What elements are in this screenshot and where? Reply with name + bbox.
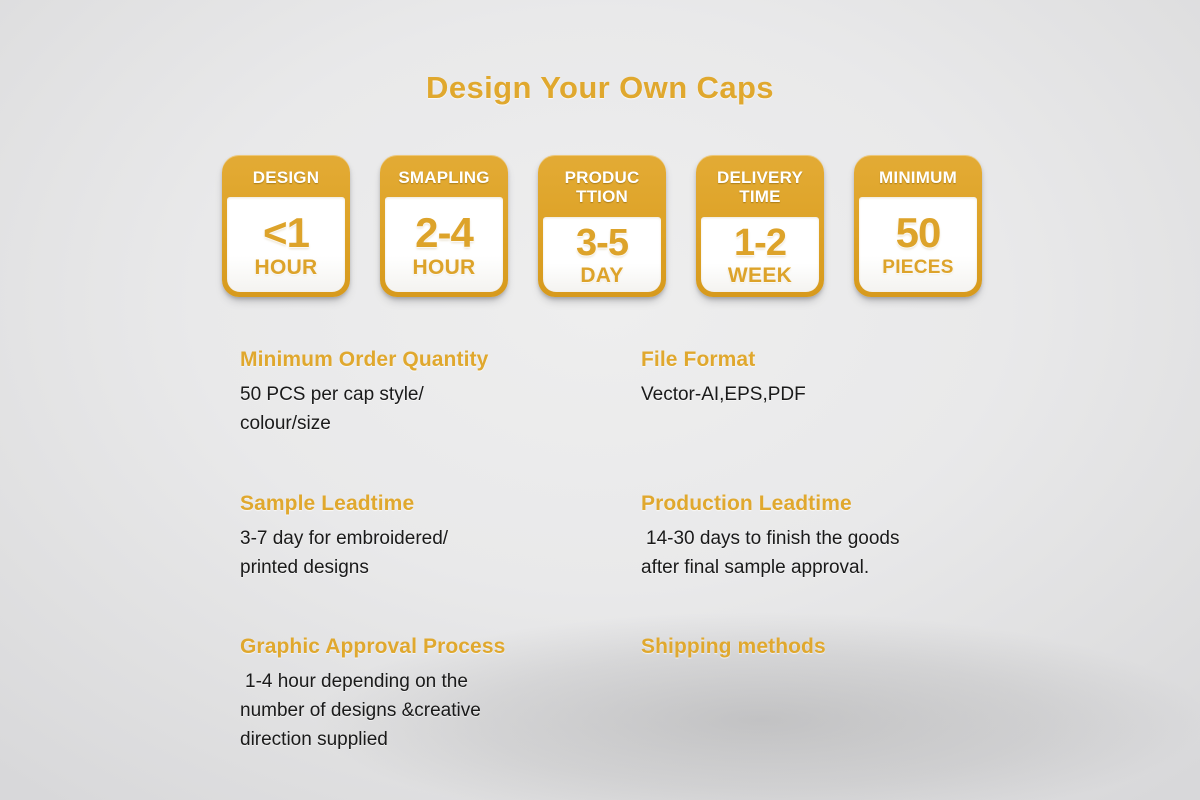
- info-body-line: colour/size: [240, 409, 640, 438]
- badge-smapling-header-line1: SMAPLING: [398, 168, 489, 187]
- info-body-line: 1-4 hour depending on the: [240, 667, 640, 696]
- info-grid: Minimum Order Quantity 50 PCS per cap st…: [240, 348, 1040, 754]
- badge-delivery-time: DELIVERY TIME 1-2 WEEK: [696, 155, 824, 297]
- badge-delivery-time-body: 1-2 WEEK: [701, 217, 819, 292]
- info-body-line: 3-7 day for embroidered/: [240, 524, 640, 553]
- info-body-production-leadtime: 14-30 days to finish the goods after fin…: [641, 524, 1040, 582]
- infographic-page: Design Your Own Caps DESIGN <1 HOUR SMAP…: [0, 0, 1200, 800]
- info-block-sample-leadtime: Sample Leadtime 3-7 day for embroidered/…: [240, 492, 640, 582]
- badge-delivery-time-header: DELIVERY TIME: [696, 155, 824, 217]
- badge-design-value: <1: [263, 211, 309, 255]
- info-row-spacer: [240, 438, 1040, 492]
- badge-smapling: SMAPLING 2-4 HOUR: [380, 155, 508, 297]
- info-block-minimum-order-quantity: Minimum Order Quantity 50 PCS per cap st…: [240, 348, 640, 438]
- badge-design-unit: HOUR: [254, 256, 317, 279]
- page-title: Design Your Own Caps: [0, 70, 1200, 106]
- badge-design-body: <1 HOUR: [227, 197, 345, 292]
- badge-minimum-header-line1: MINIMUM: [879, 168, 957, 187]
- badge-delivery-time-header-line1: DELIVERY: [717, 168, 803, 187]
- info-body-line: printed designs: [240, 553, 640, 582]
- info-block-shipping-methods: Shipping methods: [640, 635, 1040, 754]
- info-row-3: Graphic Approval Process 1-4 hour depend…: [240, 635, 1040, 754]
- info-body-sample-leadtime: 3-7 day for embroidered/ printed designs: [240, 524, 640, 582]
- info-heading-minimum-order-quantity: Minimum Order Quantity: [240, 348, 640, 372]
- info-heading-production-leadtime: Production Leadtime: [641, 492, 1040, 516]
- badge-production-header-line2: TTION: [576, 187, 628, 206]
- info-block-file-format: File Format Vector-AI,EPS,PDF: [640, 348, 1040, 438]
- badge-minimum-body: 50 PIECES: [859, 197, 977, 292]
- badge-production-body: 3-5 DAY: [543, 217, 661, 292]
- badge-smapling-header: SMAPLING: [380, 155, 508, 197]
- badge-production-unit: DAY: [580, 264, 623, 287]
- badge-minimum-header: MINIMUM: [854, 155, 982, 197]
- badge-minimum-value: 50: [896, 211, 941, 255]
- info-heading-file-format: File Format: [641, 348, 1040, 372]
- badge-smapling-body: 2-4 HOUR: [385, 197, 503, 292]
- info-body-line: 50 PCS per cap style/: [240, 380, 640, 409]
- info-body-line: 14-30 days to finish the goods: [641, 524, 1040, 553]
- info-body-minimum-order-quantity: 50 PCS per cap style/ colour/size: [240, 380, 640, 438]
- badge-minimum: MINIMUM 50 PIECES: [854, 155, 982, 297]
- badge-production-header: PRODUC TTION: [538, 155, 666, 217]
- badge-delivery-time-header-line2: TIME: [739, 187, 780, 206]
- badge-production-header-line1: PRODUC: [565, 168, 640, 187]
- info-block-production-leadtime: Production Leadtime 14-30 days to finish…: [640, 492, 1040, 582]
- info-row-spacer: [240, 582, 1040, 635]
- info-heading-shipping-methods: Shipping methods: [641, 635, 1040, 659]
- info-block-graphic-approval-process: Graphic Approval Process 1-4 hour depend…: [240, 635, 640, 754]
- info-row-1: Minimum Order Quantity 50 PCS per cap st…: [240, 348, 1040, 438]
- info-body-file-format: Vector-AI,EPS,PDF: [641, 380, 1040, 409]
- info-body-line: Vector-AI,EPS,PDF: [641, 380, 1040, 409]
- info-body-line: number of designs &creative: [240, 696, 640, 725]
- info-heading-graphic-approval-process: Graphic Approval Process: [240, 635, 640, 659]
- badge-row: DESIGN <1 HOUR SMAPLING 2-4 HOUR PRODUC …: [222, 155, 982, 300]
- badge-design-header: DESIGN: [222, 155, 350, 197]
- badge-design-header-line1: DESIGN: [253, 168, 319, 187]
- badge-smapling-unit: HOUR: [412, 256, 475, 279]
- badge-design: DESIGN <1 HOUR: [222, 155, 350, 297]
- badge-minimum-unit: PIECES: [882, 256, 954, 279]
- info-heading-sample-leadtime: Sample Leadtime: [240, 492, 640, 516]
- info-body-line: after final sample approval.: [641, 553, 1040, 582]
- badge-production-value: 3-5: [576, 223, 628, 263]
- info-row-2: Sample Leadtime 3-7 day for embroidered/…: [240, 492, 1040, 582]
- badge-delivery-time-value: 1-2: [734, 223, 786, 263]
- badge-production: PRODUC TTION 3-5 DAY: [538, 155, 666, 297]
- info-body-graphic-approval-process: 1-4 hour depending on the number of desi…: [240, 667, 640, 754]
- info-body-line: direction supplied: [240, 725, 640, 754]
- badge-smapling-value: 2-4: [415, 211, 473, 255]
- badge-delivery-time-unit: WEEK: [728, 264, 792, 287]
